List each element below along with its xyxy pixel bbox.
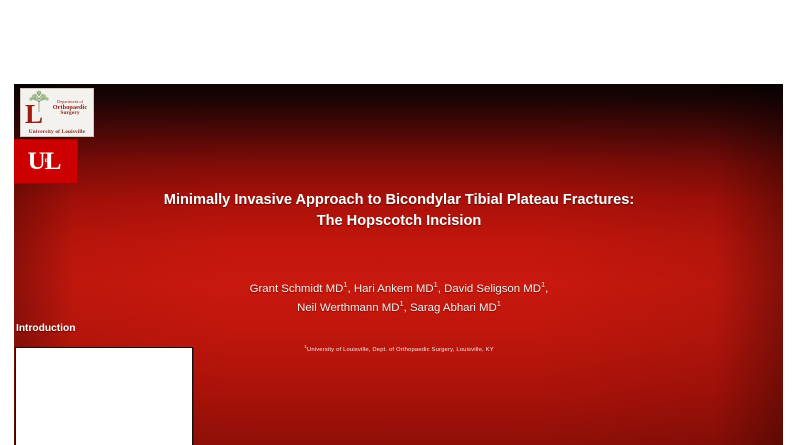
u-of-l-mark: UL of [28, 149, 61, 174]
department-logo: L Department of Orthopaedic Surgery Univ… [20, 88, 94, 137]
author-3: , David Seligson MD [438, 283, 541, 295]
affiliation: 1University of Louisville, Dept. of Orth… [109, 344, 689, 353]
dept-logo-monogram: L [25, 101, 43, 128]
author-5: , Sarag Abhari MD [404, 302, 497, 314]
author-line-2: Neil Werthmann MD1, Sarag Abhari MD1 [109, 298, 689, 317]
poster-canvas: L Department of Orthopaedic Surgery Univ… [14, 84, 783, 445]
dept-logo-line3: Surgery [48, 111, 92, 117]
u-of-l-word-of: of [45, 157, 51, 164]
u-of-l-logo: UL of [14, 139, 78, 184]
dept-logo-text: Department of Orthopaedic Surgery [48, 100, 92, 117]
u-of-l-letter-u: U [28, 148, 45, 175]
author-list: Grant Schmidt MD1, Hari Ankem MD1, David… [109, 279, 689, 316]
page-title: Minimally Invasive Approach to Bicondyla… [109, 190, 689, 231]
author-2: , Hari Ankem MD [348, 283, 434, 295]
author-line-1: Grant Schmidt MD1, Hari Ankem MD1, David… [109, 279, 689, 298]
dept-logo-university: University of Louisville [21, 129, 93, 135]
section-panel-introduction [15, 347, 193, 445]
title-line-1: Minimally Invasive Approach to Bicondyla… [109, 190, 689, 211]
author-4: Neil Werthmann MD [297, 302, 399, 314]
title-line-2: The Hopscotch Incision [109, 211, 689, 232]
author-5-sup: 1 [497, 299, 501, 308]
section-heading-introduction: Introduction [16, 323, 783, 334]
affiliation-text: University of Louisville, Dept. of Ortho… [307, 347, 494, 353]
author-line-1-end: , [545, 283, 548, 295]
author-1: Grant Schmidt MD [250, 283, 344, 295]
